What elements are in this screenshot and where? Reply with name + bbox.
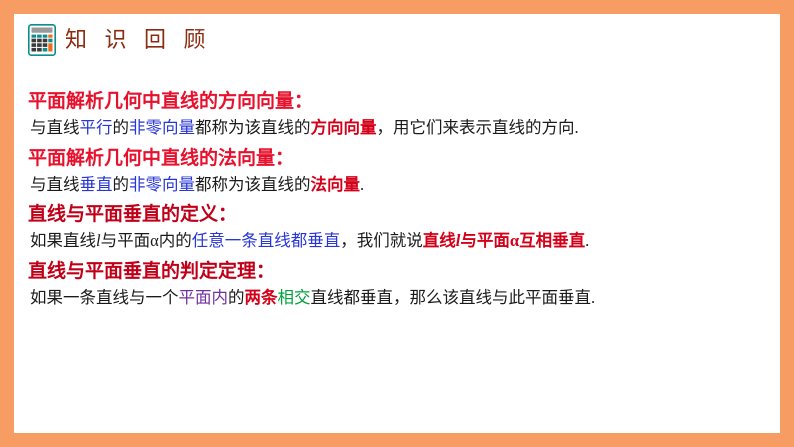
text-run-highlight: 法向量: [311, 175, 361, 194]
slide-header: 知 识 回 顾: [28, 24, 212, 56]
text-run-highlight: 平行: [80, 118, 113, 137]
section-perpendicular-definition: 直线与平面垂直的定义： 如果直线l与平面α内的任意一条直线都垂直，我们就说直线l…: [28, 202, 772, 254]
text-run-symbol: α: [150, 231, 159, 250]
text-run: 的: [228, 288, 245, 307]
section-heading: 平面解析几何中直线的法向量：: [28, 146, 772, 173]
text-run: 的: [113, 175, 130, 194]
text-run: 如果一条直线与一个: [30, 288, 179, 307]
text-run: 如果直线: [30, 231, 96, 250]
section-body: 如果一条直线与一个平面内的两条相交直线都垂直，那么该直线与此平面垂直.: [28, 286, 772, 311]
text-run: .: [585, 231, 589, 250]
section-heading: 平面解析几何中直线的方向向量：: [28, 89, 772, 116]
section-heading: 直线与平面垂直的判定定理：: [28, 259, 772, 286]
text-run-highlight: 与平面: [460, 231, 510, 250]
text-run-highlight: 平面内: [179, 288, 229, 307]
text-run-highlight: 垂直: [80, 175, 113, 194]
text-run-highlight: 两条: [245, 288, 278, 307]
text-run-highlight: 任意一条直线都垂直: [192, 231, 341, 250]
text-run: .: [360, 175, 364, 194]
text-run: 与平面: [101, 231, 151, 250]
section-heading: 直线与平面垂直的定义：: [28, 202, 772, 229]
text-run: ，用它们来表示直线的方向.: [377, 118, 579, 137]
text-run-highlight: 非零向量: [129, 118, 195, 137]
text-run-symbol: α: [510, 231, 519, 250]
text-run: 都称为该直线的: [195, 118, 311, 137]
section-body: 如果直线l与平面α内的任意一条直线都垂直，我们就说直线l与平面α互相垂直.: [28, 229, 772, 254]
text-run-highlight: 直线: [423, 231, 456, 250]
section-body: 与直线平行的非零向量都称为该直线的方向向量，用它们来表示直线的方向.: [28, 116, 772, 141]
text-run-highlight: 方向向量: [311, 118, 377, 137]
text-run-highlight: 互相垂直: [519, 231, 585, 250]
section-direction-vector: 平面解析几何中直线的方向向量： 与直线平行的非零向量都称为该直线的方向向量，用它…: [28, 89, 772, 141]
text-run: 都称为该直线的: [195, 175, 311, 194]
text-run: 的: [113, 118, 130, 137]
text-run-highlight: 非零向量: [129, 175, 195, 194]
slide-content-area: 知 识 回 顾 平面解析几何中直线的方向向量： 与直线平行的非零向量都称为该直线…: [14, 14, 780, 433]
section-normal-vector: 平面解析几何中直线的法向量： 与直线垂直的非零向量都称为该直线的法向量.: [28, 146, 772, 198]
page-title: 知 识 回 顾: [65, 29, 212, 51]
slide-frame: 知 识 回 顾 平面解析几何中直线的方向向量： 与直线平行的非零向量都称为该直线…: [0, 0, 794, 447]
calculator-icon: [28, 24, 56, 56]
text-run-highlight: 相交: [278, 288, 311, 307]
text-run: 与直线: [30, 175, 80, 194]
section-perpendicular-theorem: 直线与平面垂直的判定定理： 如果一条直线与一个平面内的两条相交直线都垂直，那么该…: [28, 259, 772, 311]
knowledge-review-list: 平面解析几何中直线的方向向量： 与直线平行的非零向量都称为该直线的方向向量，用它…: [28, 89, 772, 316]
text-run: 内的: [159, 231, 192, 250]
text-run: 与直线: [30, 118, 80, 137]
text-run: 直线都垂直，那么该直线与此平面垂直.: [311, 288, 596, 307]
section-body: 与直线垂直的非零向量都称为该直线的法向量.: [28, 173, 772, 198]
text-run: ，我们就说: [340, 231, 423, 250]
